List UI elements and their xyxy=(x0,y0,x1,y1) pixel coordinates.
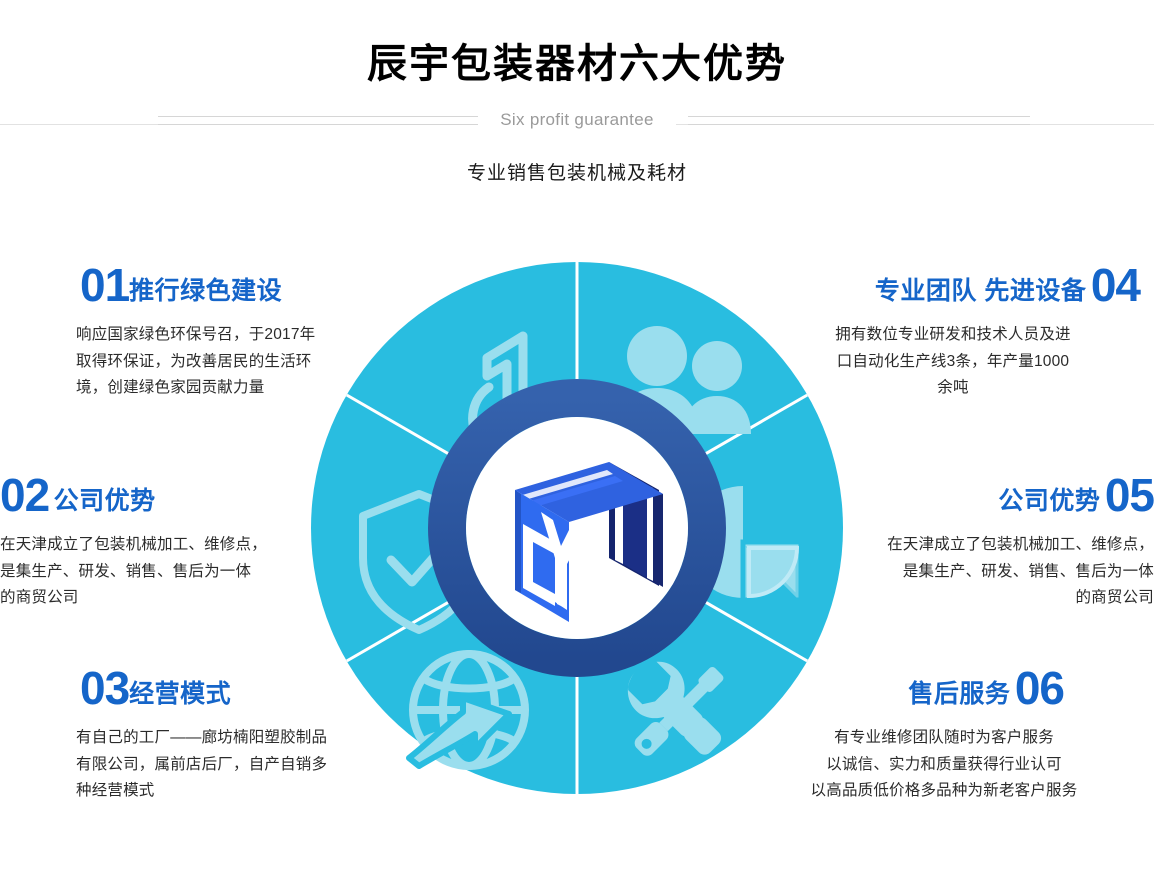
body-line: 余吨 xyxy=(778,375,1128,402)
advantage-block-04: 专业团队 先进设备 04 拥有数位专业研发和技术人员及进 口自动化生产线3条，年… xyxy=(778,262,1140,402)
body-line: 是集生产、研发、销售、售后为一体 xyxy=(0,559,298,586)
advantage-block-03: 03经营模式 有自己的工厂——廊坊楠阳塑胶制品 有限公司，属前店后厂，自产自销多… xyxy=(14,665,386,805)
body-line: 在天津成立了包装机械加工、维修点， xyxy=(856,532,1154,559)
advantage-number-02: 02 xyxy=(0,469,49,521)
body-line: 种经营模式 xyxy=(76,778,386,805)
body-line: 有专业维修团队随时为客户服务 xyxy=(770,725,1118,752)
subtitle-divider: Six profit guarantee xyxy=(0,102,1154,138)
subtitle-chinese: 专业销售包装机械及耗材 xyxy=(0,158,1154,185)
body-line: 拥有数位专业研发和技术人员及进 xyxy=(778,322,1128,349)
advantage-heading-06: 售后服务 06 xyxy=(770,665,1142,711)
body-line: 的商贸公司 xyxy=(0,585,298,612)
advantage-block-02: 02 公司优势 在天津成立了包装机械加工、维修点， 是集生产、研发、销售、售后为… xyxy=(0,472,298,612)
advantage-body-05: 在天津成立了包装机械加工、维修点， 是集生产、研发、销售、售后为一体 的商贸公司 xyxy=(856,532,1154,612)
advantage-block-06: 售后服务 06 有专业维修团队随时为客户服务 以诚信、实力和质量获得行业认可 以… xyxy=(770,665,1142,805)
body-line: 口自动化生产线3条，年产量1000 xyxy=(778,349,1128,376)
body-line: 有自己的工厂——廊坊楠阳塑胶制品 xyxy=(76,725,386,752)
subtitle-english: Six profit guarantee xyxy=(478,110,675,129)
center-wheel xyxy=(311,262,843,794)
advantage-number-04: 04 xyxy=(1091,259,1140,311)
advantage-number-05: 05 xyxy=(1105,469,1154,521)
body-line: 有限公司，属前店后厂，自产自销多 xyxy=(76,752,386,779)
advantage-label-05: 公司优势 xyxy=(998,487,1100,515)
body-line: 在天津成立了包装机械加工、维修点， xyxy=(0,532,298,559)
advantage-heading-03: 03经营模式 xyxy=(14,665,386,711)
advantage-body-02: 在天津成立了包装机械加工、维修点， 是集生产、研发、销售、售后为一体 的商贸公司 xyxy=(0,532,298,612)
body-line: 的商贸公司 xyxy=(856,585,1154,612)
advantage-label-03: 经营模式 xyxy=(129,680,231,708)
advantage-number-06: 06 xyxy=(1015,662,1064,714)
advantage-number-01: 01 xyxy=(80,259,129,311)
advantage-label-04: 专业团队 先进设备 xyxy=(875,277,1086,305)
advantage-label-02: 公司优势 xyxy=(54,487,156,515)
body-line: 响应国家绿色环保号召，于2017年 xyxy=(76,322,374,349)
advantage-label-01: 推行绿色建设 xyxy=(129,277,282,305)
subtitle-english-wrap: Six profit guarantee xyxy=(0,110,1154,130)
advantage-body-03: 有自己的工厂——廊坊楠阳塑胶制品 有限公司，属前店后厂，自产自销多 种经营模式 xyxy=(14,725,386,805)
advantage-block-05: 公司优势 05 在天津成立了包装机械加工、维修点， 是集生产、研发、销售、售后为… xyxy=(856,472,1154,612)
body-line: 是集生产、研发、销售、售后为一体 xyxy=(856,559,1154,586)
advantage-body-04: 拥有数位专业研发和技术人员及进 口自动化生产线3条，年产量1000 余吨 xyxy=(778,322,1140,402)
advantage-label-06: 售后服务 xyxy=(908,680,1010,708)
body-line: 取得环保证，为改善居民的生活环 xyxy=(76,349,374,376)
advantage-heading-02: 02 公司优势 xyxy=(0,472,298,518)
advantage-heading-01: 01推行绿色建设 xyxy=(14,262,374,308)
advantage-heading-04: 专业团队 先进设备 04 xyxy=(778,262,1140,308)
advantage-block-01: 01推行绿色建设 响应国家绿色环保号召，于2017年 取得环保证，为改善居民的生… xyxy=(14,262,374,402)
advantage-heading-05: 公司优势 05 xyxy=(856,472,1154,518)
body-line: 以高品质低价格多品种为新老客户服务 xyxy=(770,778,1118,805)
advantage-body-01: 响应国家绿色环保号召，于2017年 取得环保证，为改善居民的生活环 境，创建绿色… xyxy=(14,322,374,402)
advantage-number-03: 03 xyxy=(80,662,129,714)
advantage-body-06: 有专业维修团队随时为客户服务 以诚信、实力和质量获得行业认可 以高品质低价格多品… xyxy=(770,725,1142,805)
body-line: 境，创建绿色家园贡献力量 xyxy=(76,375,374,402)
page-title: 辰宇包装器材六大优势 xyxy=(0,40,1154,88)
header: 辰宇包装器材六大优势 Six profit guarantee 专业销售包装机械… xyxy=(0,0,1154,185)
body-line: 以诚信、实力和质量获得行业认可 xyxy=(770,752,1118,779)
infographic-page: 辰宇包装器材六大优势 Six profit guarantee 专业销售包装机械… xyxy=(0,0,1154,894)
